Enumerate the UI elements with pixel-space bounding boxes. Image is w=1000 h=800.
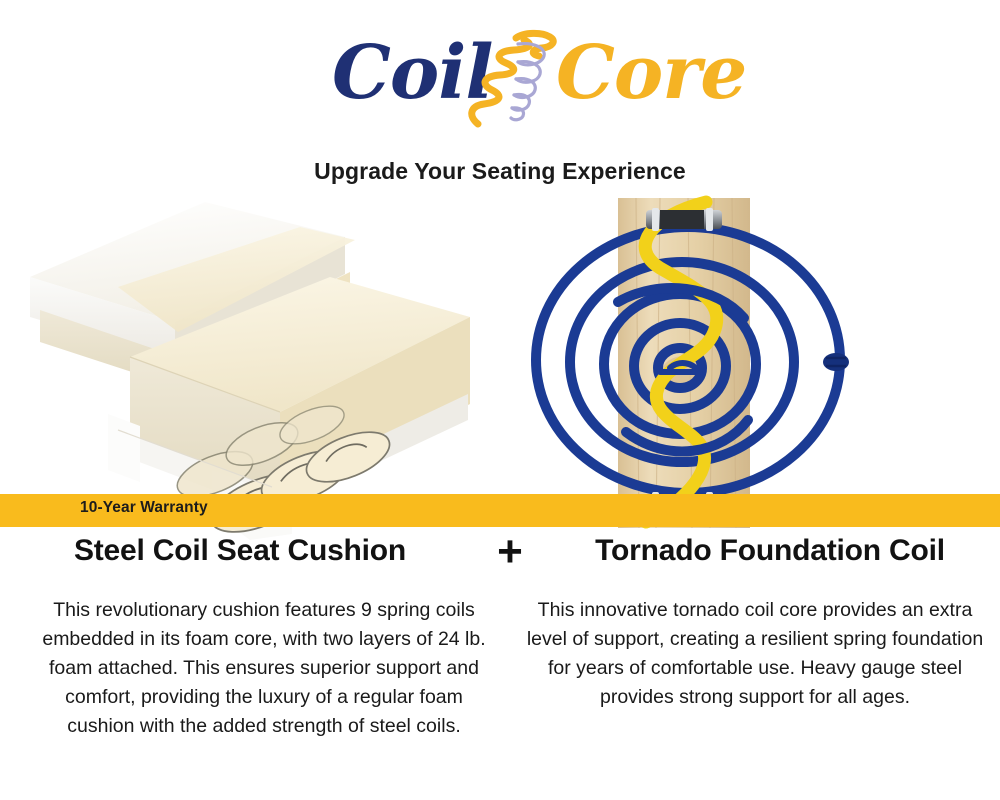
product-title-left: Steel Coil Seat Cushion <box>0 534 480 568</box>
top-clamp <box>646 208 722 231</box>
tornado-foundation-coil-photo <box>500 182 1000 530</box>
logo-word-core: Core <box>556 18 746 128</box>
plus-separator-icon: + <box>480 530 540 574</box>
brand-header: Coil <box>0 18 1000 178</box>
steel-coil-seat-cushion-photo <box>0 182 500 530</box>
product-description-right: This innovative tornado coil core provid… <box>522 596 988 712</box>
product-title-right: Tornado Foundation Coil <box>540 534 1000 568</box>
tornado-coil-logo-mark <box>460 28 570 138</box>
product-title-row: Steel Coil Seat Cushion + Tornado Founda… <box>0 534 1000 582</box>
product-description-left: This revolutionary cushion features 9 sp… <box>34 596 494 741</box>
brand-tagline: Upgrade Your Seating Experience <box>0 158 1000 185</box>
infographic-page: Coil <box>0 0 1000 800</box>
logo-row: Coil <box>0 18 1000 136</box>
product-image-row <box>0 182 1000 530</box>
warranty-label: 10-Year Warranty <box>80 499 208 517</box>
